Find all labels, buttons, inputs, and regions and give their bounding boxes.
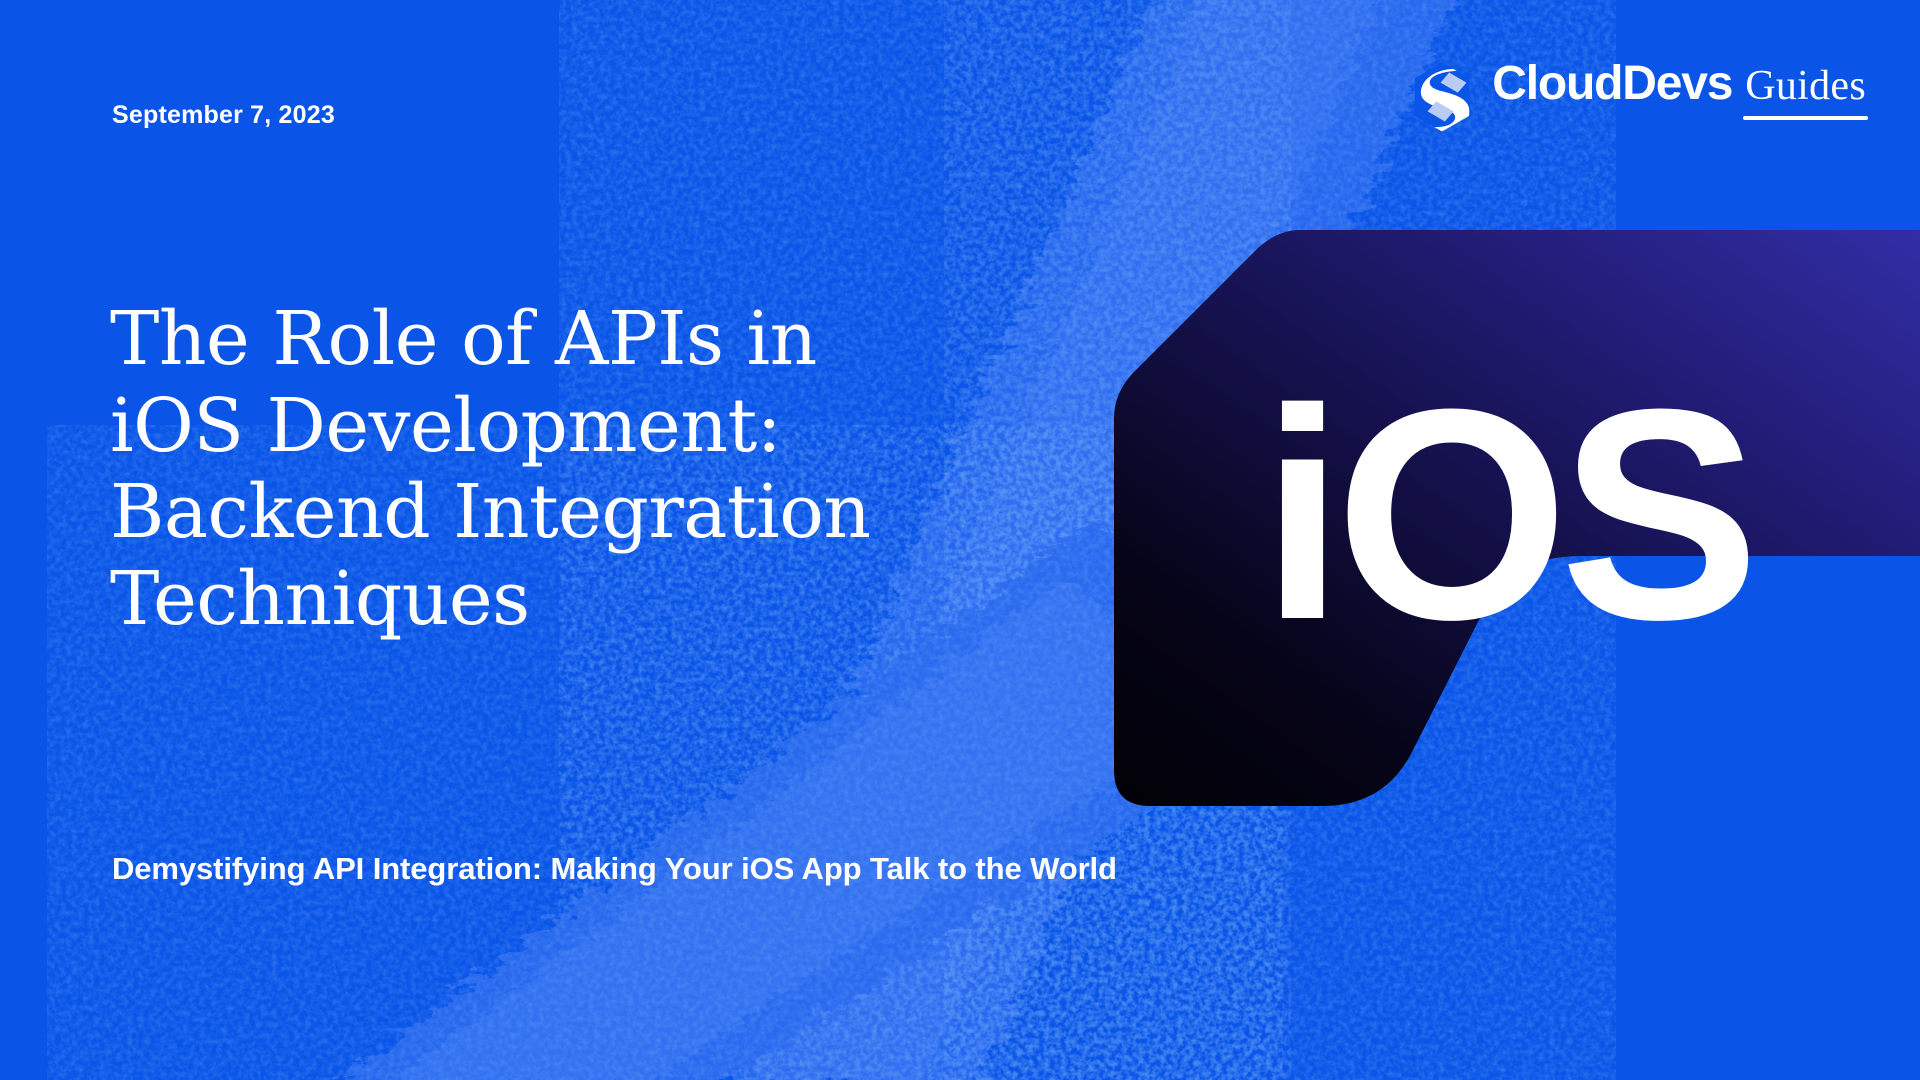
brand-primary-text: CloudDevs (1492, 60, 1732, 108)
slide-title: The Role of APIs in iOS Development: Bac… (110, 296, 930, 642)
brand-secondary-text: Guides (1743, 65, 1868, 107)
ios-feature-card: iOS (1110, 226, 1920, 810)
brand-secondary-underline (1743, 116, 1868, 120)
slide-subtitle: Demystifying API Integration: Making You… (112, 846, 1122, 892)
clouddevs-hexagon-logo-icon (1406, 61, 1478, 133)
slide-canvas: September 7, 2023 Clo (0, 0, 1920, 1080)
logo-wordmark: CloudDevs Guides (1492, 60, 1868, 134)
publish-date: September 7, 2023 (112, 101, 335, 130)
brand-secondary-wrap: Guides (1743, 65, 1868, 120)
brand-logo[interactable]: CloudDevs Guides (1406, 60, 1868, 134)
